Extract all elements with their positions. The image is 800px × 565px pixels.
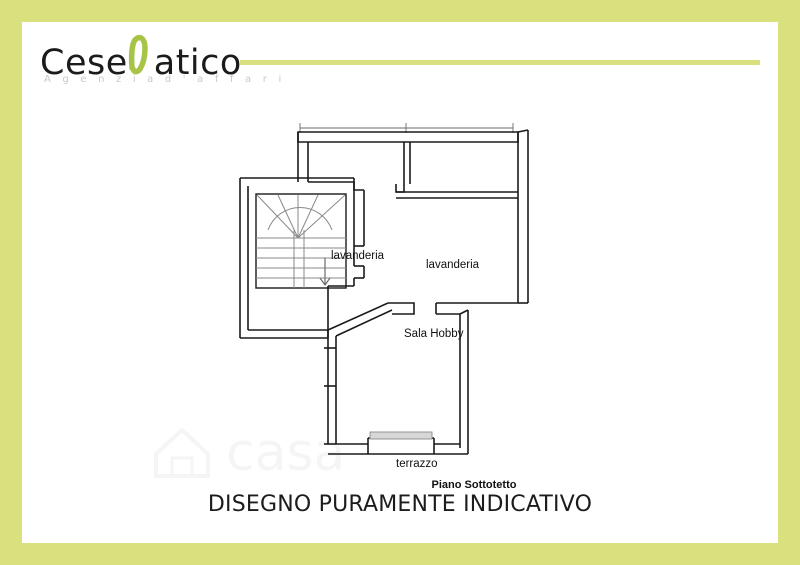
logo-wordmark: Ceseatico	[40, 30, 250, 74]
plan-title: Piano Sottotetto	[374, 479, 574, 491]
company-logo[interactable]: Ceseatico A g e n z i a d ' a f f a r i	[40, 30, 250, 96]
arrow-down-icon	[320, 258, 330, 285]
header-divider-rule	[240, 60, 760, 65]
floor-plan-area: casa	[22, 100, 778, 500]
page-frame: Ceseatico A g e n z i a d ' a f f a r i …	[0, 0, 800, 565]
room-label-lavanderia-1: lavanderia	[331, 250, 384, 262]
floor-plan-drawing	[228, 118, 558, 468]
logo-swoosh-icon	[126, 28, 158, 76]
caption-disclaimer: DISEGNO PURAMENTE INDICATIVO	[22, 492, 778, 517]
room-label-lavanderia-2: lavanderia	[426, 259, 479, 271]
logo-subtitle: A g e n z i a d ' a f f a r i	[44, 74, 250, 85]
header: Ceseatico A g e n z i a d ' a f f a r i	[22, 22, 778, 100]
room-label-terrazzo: terrazzo	[396, 458, 438, 470]
staircase	[256, 194, 346, 288]
logo-accent-n	[128, 30, 154, 74]
room-label-sala-hobby: Sala Hobby	[404, 328, 463, 340]
document-sheet: Ceseatico A g e n z i a d ' a f f a r i …	[22, 22, 778, 543]
